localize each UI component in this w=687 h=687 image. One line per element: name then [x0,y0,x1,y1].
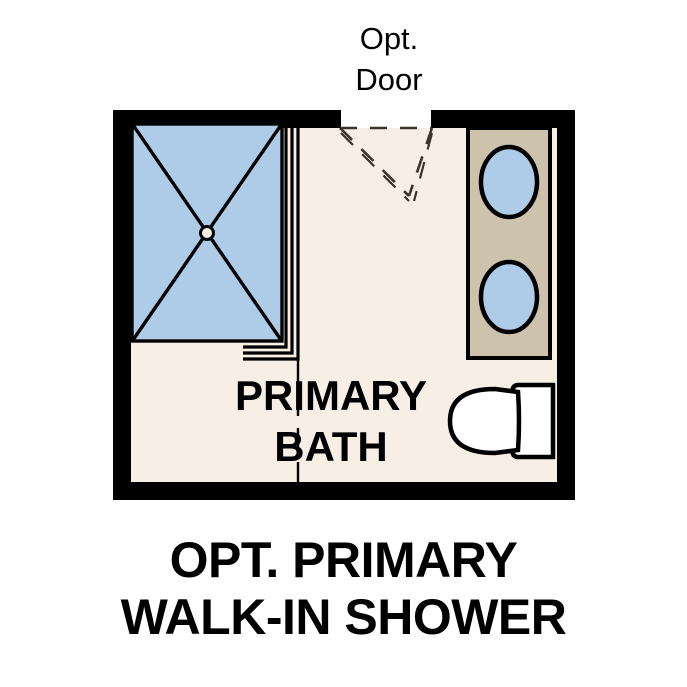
toilet [450,385,553,457]
wall-right [557,110,575,500]
shower-center-node [201,227,214,240]
wall-top-right [437,110,575,128]
vanity-sink-lower [481,262,537,332]
wall-left [113,110,131,500]
page-title-line2: WALK-IN SHOWER [3,589,684,646]
vanity-sink-upper [481,147,537,217]
door-jamb-right [431,110,437,128]
walk-in-shower [132,116,298,359]
opt-door-annotation: Opt. Door [289,18,489,100]
door-jamb-left [335,110,341,128]
double-vanity [468,128,550,358]
opt-door-annotation-line2: Door [289,59,489,100]
wall-bottom [113,482,575,500]
page-title-line1: OPT. PRIMARY [3,532,684,589]
opt-door-annotation-line1: Opt. [289,18,489,59]
page-title: OPT. PRIMARY WALK-IN SHOWER [3,532,684,646]
room-label-line1: PRIMARY [235,372,427,419]
room-label-line2: BATH [274,423,388,470]
floorplan-diagram: PRIMARY BATH Opt. Door OPT. PRIMARY WALK… [0,0,687,687]
toilet-bowl [450,389,519,453]
